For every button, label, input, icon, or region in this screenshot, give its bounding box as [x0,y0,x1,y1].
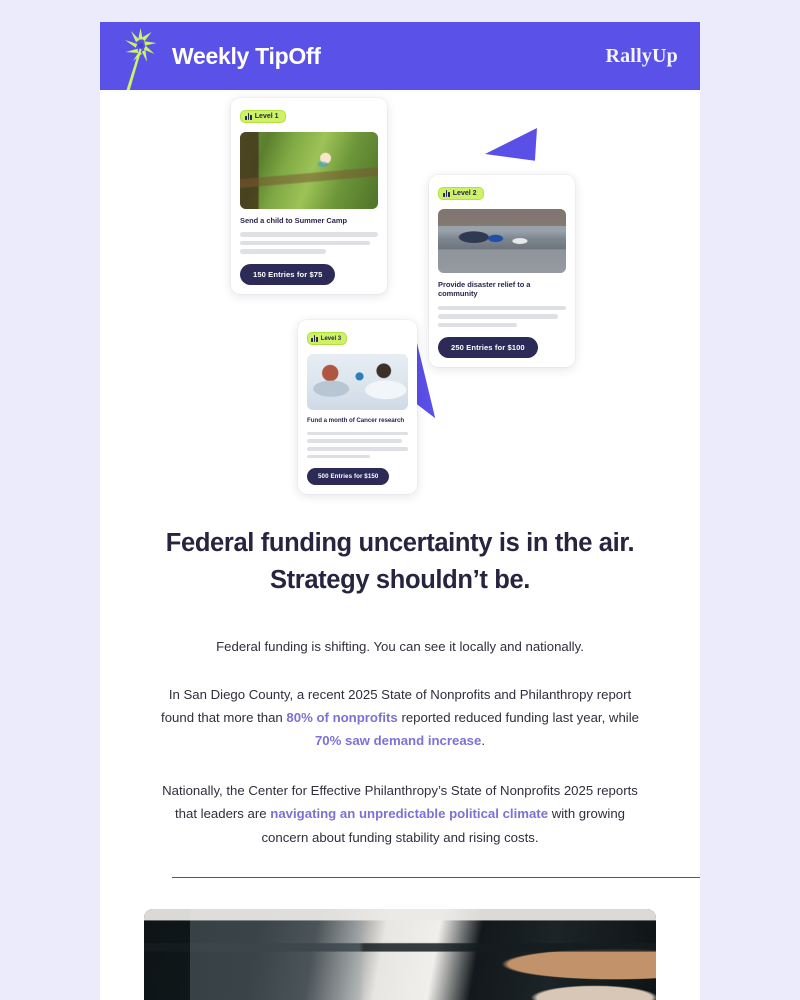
hero-illustration: Level 1 Send a child to Summer Camp 150 … [100,90,700,515]
national-paragraph: Nationally, the Center for Effective Phi… [152,779,648,848]
entries-button[interactable]: 150 Entries for $75 [240,264,335,285]
stats-text-part-2: reported reduced funding last year, whil… [398,710,639,725]
entries-button[interactable]: 500 Entries for $150 [307,468,389,485]
section-divider [172,877,700,878]
level-badge: Level 3 [307,332,347,345]
partner-brand-logo: RallyUp [605,45,678,68]
link-demand-stat[interactable]: 70% saw demand increase [315,733,481,748]
level-badge: Level 2 [438,187,484,200]
pointer-arrow-icon-2 [485,128,537,170]
dandelion-starburst-icon [120,22,162,90]
headline-line-2: Strategy shouldn’t be. [152,562,648,599]
promo-title: Send a child to Summer Camp [240,216,378,225]
stats-text-part-3: . [481,733,485,748]
email-page: Weekly TipOff RallyUp Level 1 Send a chi… [0,0,800,1000]
promo-card[interactable]: Level 2 Provide disaster relief to a com… [429,175,575,367]
level-badge-label: Level 3 [321,336,341,342]
brand-title: Weekly TipOff [172,43,321,70]
intro-paragraph: Federal funding is shifting. You can see… [152,635,648,658]
level-badge-label: Level 2 [453,190,477,197]
level-badge: Level 1 [240,110,286,123]
stats-paragraph: In San Diego County, a recent 2025 State… [152,683,648,752]
entries-button[interactable]: 250 Entries for $100 [438,337,538,358]
bar-chart-icon [245,113,252,120]
link-political-climate[interactable]: navigating an unpredictable political cl… [270,806,548,821]
link-nonprofits-stat[interactable]: 80% of nonprofits [286,710,397,725]
email-header: Weekly TipOff RallyUp [100,22,700,90]
footer-image-section [100,909,700,1000]
email-card: Weekly TipOff RallyUp Level 1 Send a chi… [100,22,700,1000]
brand-lockup: Weekly TipOff [120,22,321,90]
text-placeholder-lines [307,432,408,458]
promo-photo [438,209,566,273]
promo-card[interactable]: Level 1 Send a child to Summer Camp 150 … [231,98,387,294]
promo-title: Provide disaster relief to a community [438,280,566,299]
promo-photo [307,354,408,410]
text-placeholder-lines [240,232,378,254]
footer-photo[interactable] [144,909,656,1000]
promo-photo [240,132,378,209]
promo-card[interactable]: Level 3 Fund a month of Cancer research … [298,320,417,494]
bar-chart-icon [443,190,450,197]
text-placeholder-lines [438,306,566,328]
level-badge-label: Level 1 [255,113,279,120]
email-body: Federal funding uncertainty is in the ai… [100,525,700,878]
bar-chart-icon [311,335,318,342]
headline-line-1: Federal funding uncertainty is in the ai… [166,529,634,557]
promo-title: Fund a month of Cancer research [307,417,408,425]
page-title: Federal funding uncertainty is in the ai… [152,525,648,599]
